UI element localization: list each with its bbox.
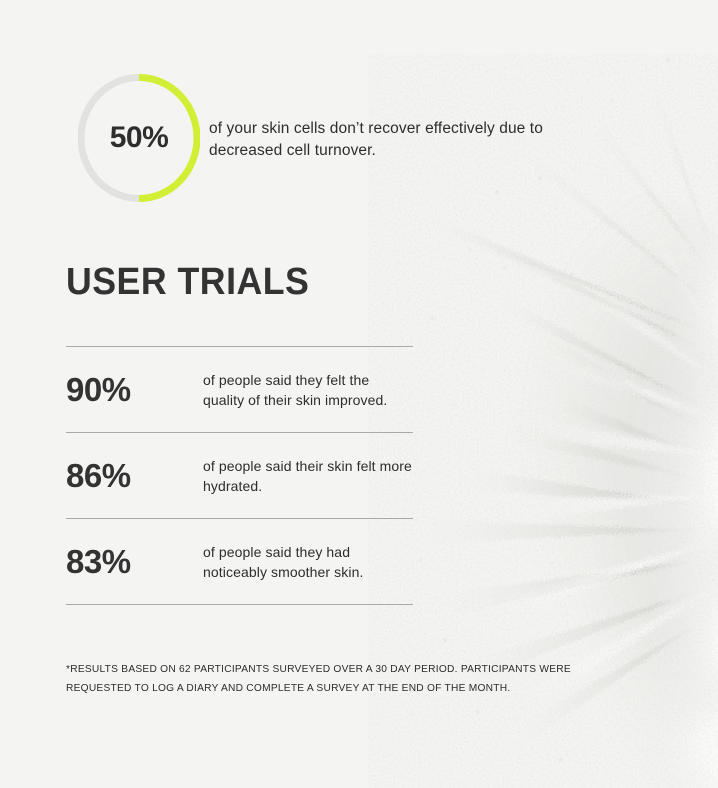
- trial-percent: 90%: [66, 371, 203, 409]
- trial-divider-bottom: [66, 604, 413, 605]
- hero-percent: 50%: [78, 72, 200, 204]
- trial-description: of people said they felt the quality of …: [203, 370, 413, 410]
- table-row: 86% of people said their skin felt more …: [66, 433, 413, 518]
- footnote: *RESULTS BASED ON 62 PARTICIPANTS SURVEY…: [66, 660, 626, 698]
- user-trials-list: 90% of people said they felt the quality…: [66, 346, 413, 605]
- page-title: USER TRIALS: [66, 261, 309, 304]
- trial-description: of people said they had noticeably smoot…: [203, 542, 413, 582]
- hero-description: of your skin cells don’t recover effecti…: [209, 118, 554, 162]
- table-row: 83% of people said they had noticeably s…: [66, 519, 413, 604]
- trial-percent: 83%: [66, 543, 203, 581]
- trial-description: of people said their skin felt more hydr…: [203, 456, 413, 496]
- trial-percent: 86%: [66, 457, 203, 495]
- hero-stat: 50% of your skin cells don’t recover eff…: [78, 72, 548, 204]
- table-row: 90% of people said they felt the quality…: [66, 347, 413, 432]
